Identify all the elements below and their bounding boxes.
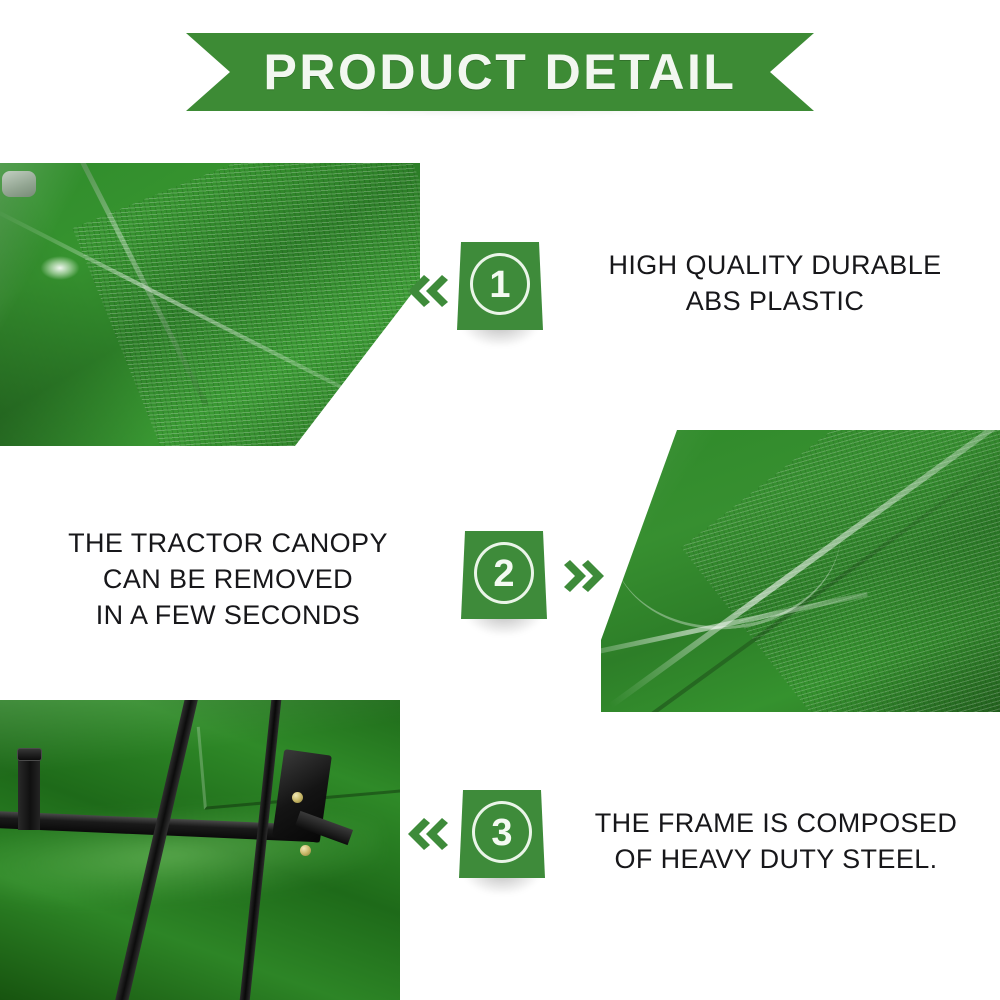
badge-number: 2 — [461, 531, 547, 619]
feature-photo-steel-frame — [0, 700, 400, 1000]
feature-text-1-line-1: HIGH QUALITY DURABLE — [580, 248, 970, 284]
feature-text-2: THE TRACTOR CANOPY CAN BE REMOVED IN A F… — [28, 526, 428, 634]
chevron-double-right-icon — [562, 553, 608, 599]
feature-text-1-line-2: ABS PLASTIC — [580, 284, 970, 320]
feature-text-3-line-1: THE FRAME IS COMPOSED — [572, 806, 980, 842]
feature-text-1: HIGH QUALITY DURABLE ABS PLASTIC — [580, 248, 970, 320]
feature-text-2-line-2: CAN BE REMOVED — [28, 562, 428, 598]
chevron-double-left-icon — [404, 811, 450, 857]
feature-text-2-line-3: IN A FEW SECONDS — [28, 598, 428, 634]
feature-text-2-line-1: THE TRACTOR CANOPY — [28, 526, 428, 562]
feature-text-3-line-2: OF HEAVY DUTY STEEL. — [572, 842, 980, 878]
step-badge-2: 2 — [461, 531, 547, 635]
step-badge-1: 1 — [457, 242, 543, 346]
step-badge-3: 3 — [459, 790, 545, 894]
chevron-double-left-icon — [404, 268, 450, 314]
feature-photo-abs-plastic — [0, 163, 420, 446]
badge-number: 1 — [457, 242, 543, 330]
photo-frame-post — [18, 752, 40, 830]
feature-text-3: THE FRAME IS COMPOSED OF HEAVY DUTY STEE… — [572, 806, 980, 878]
product-detail-infographic: PRODUCT DETAIL 1 HIGH QUALITY DURABLE AB… — [0, 0, 1000, 1000]
photo-bolt-detail — [2, 171, 36, 197]
photo-texture-overlay — [72, 163, 420, 446]
page-title: PRODUCT DETAIL — [186, 33, 814, 111]
feature-photo-canopy-edge — [601, 430, 1000, 712]
photo-frame-bolt — [300, 845, 311, 856]
photo-frame-post-cap — [17, 748, 42, 761]
badge-number: 3 — [459, 790, 545, 878]
photo-frame-bolt — [292, 792, 303, 803]
banner: PRODUCT DETAIL — [186, 33, 814, 111]
